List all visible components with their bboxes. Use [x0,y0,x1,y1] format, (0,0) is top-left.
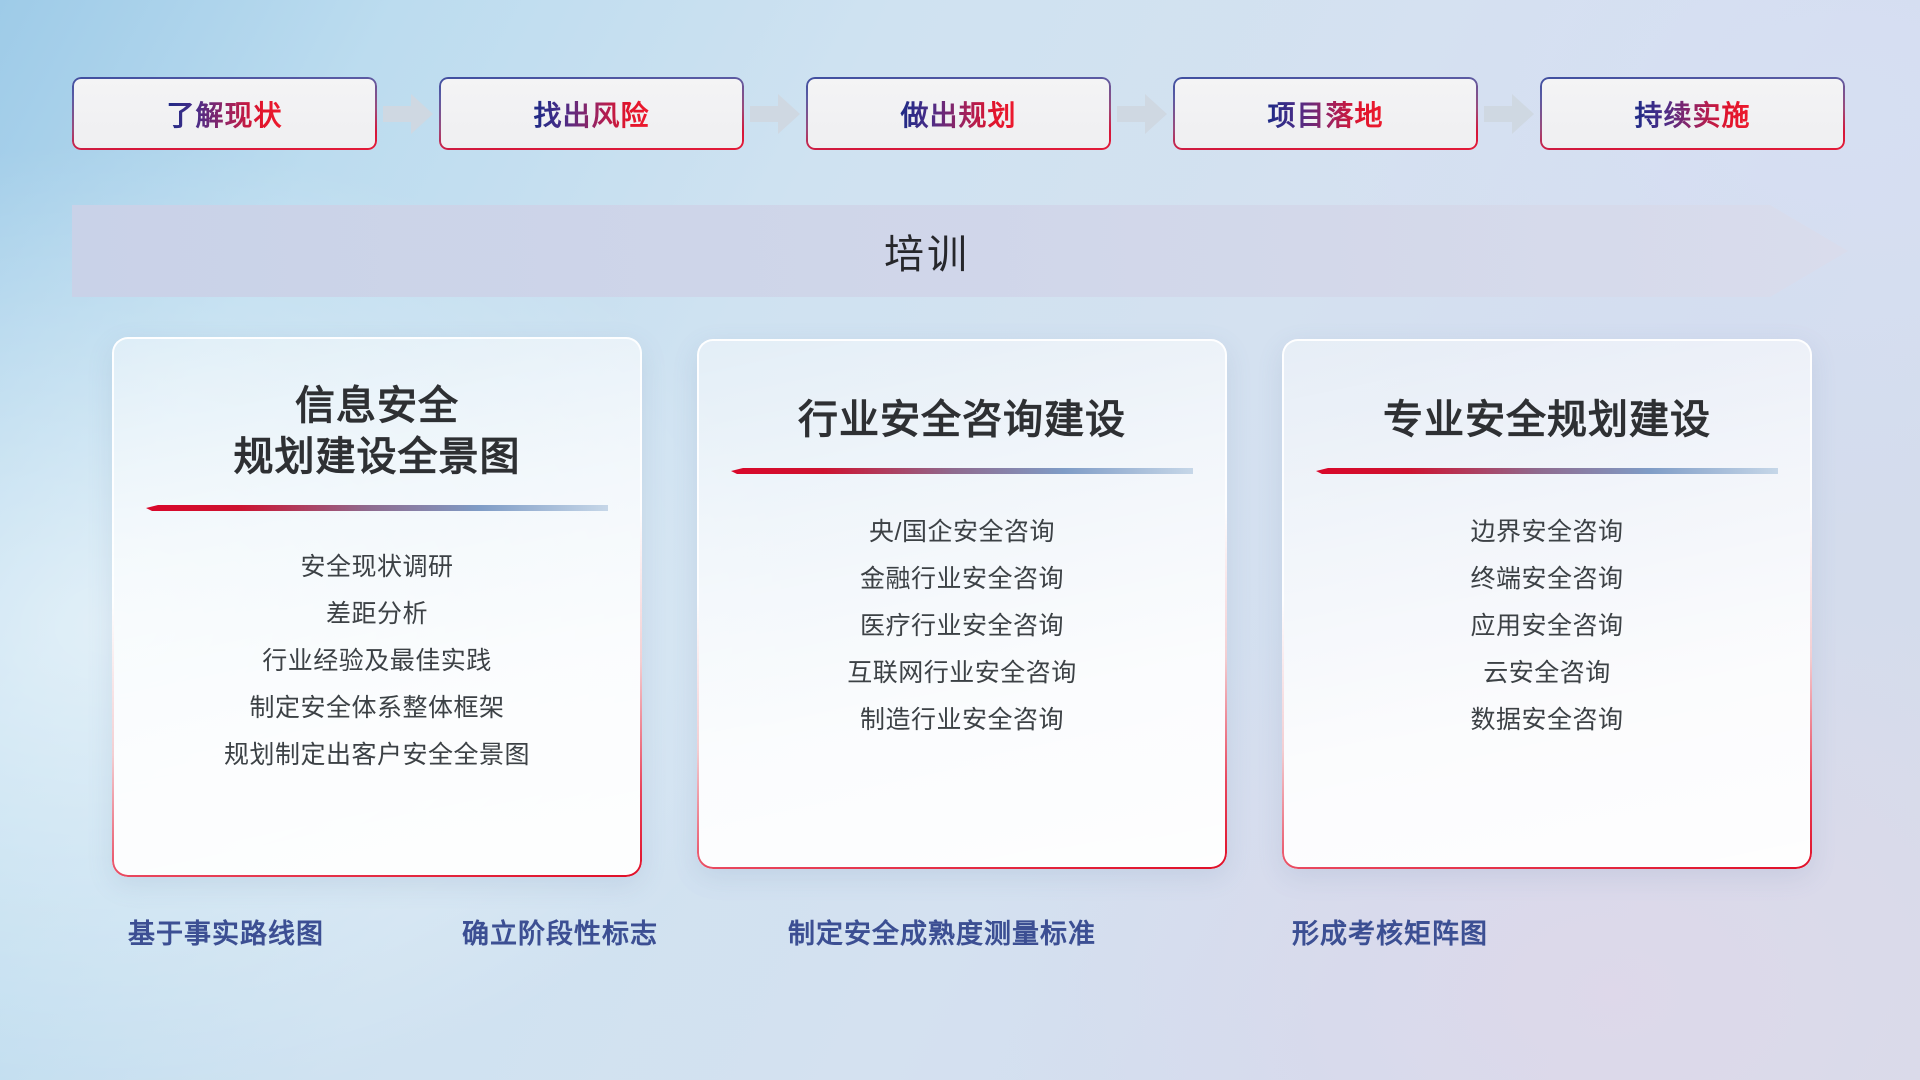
list-item: 边界安全咨询 [1308,509,1786,556]
card-industry-security-consulting[interactable]: 行业安全咨询建设 [697,339,1227,869]
training-banner: 培训 [72,205,1848,297]
card-title: 专业安全规划建设 [1383,395,1711,446]
step-chip-2[interactable]: 做出规划 [806,77,1111,150]
list-item: 制造行业安全咨询 [723,697,1201,744]
step-label: 项目落地 [1267,94,1383,134]
list-item: 央/国企安全咨询 [723,509,1201,556]
list-item: 制定安全体系整体框架 [138,685,616,732]
step-chip-0[interactable]: 了解现状 [72,77,377,150]
card-professional-security-planning[interactable]: 专业安全规划建设 [1282,339,1812,869]
step-arrow-icon-1 [744,77,806,150]
card-divider [1316,468,1778,481]
step-arrow-icon-3 [1478,77,1540,150]
training-banner-title: 培训 [72,205,1782,297]
list-item: 数据安全咨询 [1308,697,1786,744]
list-item: 行业经验及最佳实践 [138,638,616,685]
step-chip-4[interactable]: 持续实施 [1540,77,1845,150]
card-divider [731,468,1193,481]
step-label: 持续实施 [1634,94,1750,134]
card-item-list: 边界安全咨询 终端安全咨询 应用安全咨询 云安全咨询 数据安全咨询 [1308,509,1786,744]
step-arrow-icon-0 [377,77,439,150]
footer-label-3: 形成考核矩阵图 [1292,912,1488,951]
card-group: 信息安全 规划建设全景图 [112,337,1812,877]
step-label: 做出规划 [900,94,1016,134]
card-title: 行业安全咨询建设 [798,395,1126,446]
footer-label-0: 基于事实路线图 [128,912,324,951]
list-item: 应用安全咨询 [1308,603,1786,650]
list-item: 终端安全咨询 [1308,556,1786,603]
step-arrow-icon-2 [1111,77,1173,150]
step-label: 了解现状 [166,94,282,134]
step-label: 找出风险 [533,94,649,134]
list-item: 规划制定出客户安全全景图 [138,732,616,779]
list-item: 云安全咨询 [1308,650,1786,697]
card-item-list: 安全现状调研 差距分析 行业经验及最佳实践 制定安全体系整体框架 规划制定出客户… [138,544,616,779]
card-title: 信息安全 规划建设全景图 [234,381,521,483]
step-chip-3[interactable]: 项目落地 [1173,77,1478,150]
list-item: 安全现状调研 [138,544,616,591]
footer-label-1: 确立阶段性标志 [462,912,658,951]
card-item-list: 央/国企安全咨询 金融行业安全咨询 医疗行业安全咨询 互联网行业安全咨询 制造行… [723,509,1201,744]
step-chip-1[interactable]: 找出风险 [439,77,744,150]
process-step-bar: 了解现状 找出风险 做出规划 项目落地 [72,77,1848,150]
slide-canvas: 了解现状 找出风险 做出规划 项目落地 [0,0,1920,1080]
list-item: 医疗行业安全咨询 [723,603,1201,650]
list-item: 互联网行业安全咨询 [723,650,1201,697]
card-information-security-blueprint[interactable]: 信息安全 规划建设全景图 [112,337,642,877]
list-item: 差距分析 [138,591,616,638]
footer-label-row: 基于事实路线图 确立阶段性标志 制定安全成熟度测量标准 形成考核矩阵图 [0,912,1920,972]
footer-label-2: 制定安全成熟度测量标准 [788,912,1096,951]
card-divider [146,505,608,518]
list-item: 金融行业安全咨询 [723,556,1201,603]
